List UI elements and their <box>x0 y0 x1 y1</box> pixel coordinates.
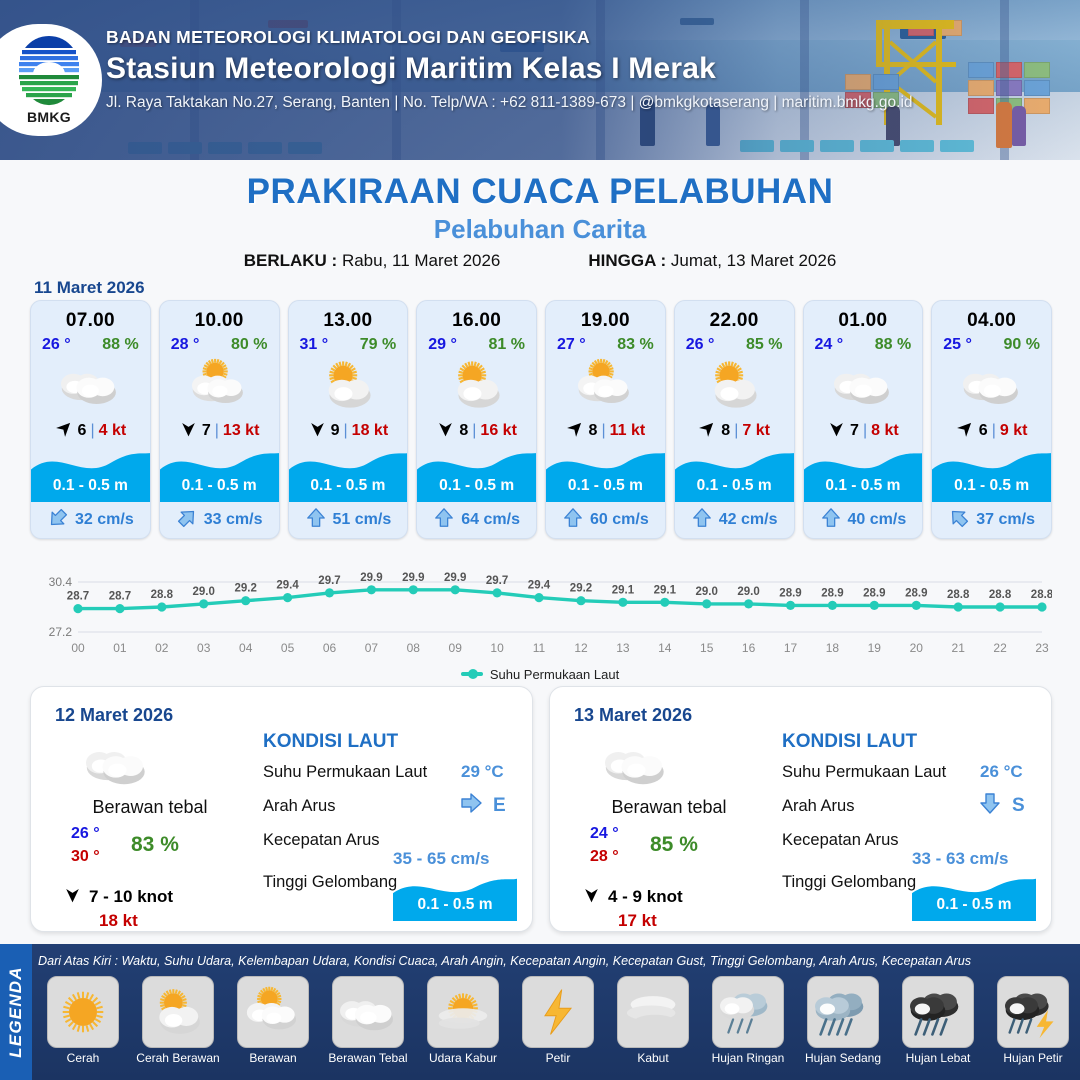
card-wave: 0.1 - 0.5 m <box>804 446 923 502</box>
valid-from-label: BERLAKU : <box>244 251 338 270</box>
wind-direction-arrow-icon <box>827 419 846 443</box>
svg-text:12: 12 <box>574 641 588 655</box>
legend-item: Berawan <box>228 976 318 1065</box>
card-wind-direction: 8 <box>589 422 598 440</box>
header-text-block: BADAN METEOROLOGI KLIMATOLOGI DAN GEOFIS… <box>106 27 913 112</box>
berawan-icon <box>237 976 309 1048</box>
card-wind-separator: | <box>215 422 219 440</box>
card-temperature: 26 ° <box>686 336 715 354</box>
current-direction-arrow-icon <box>820 507 842 534</box>
panel-wind-value: 7 - 10 knot <box>89 887 173 907</box>
panel-temp-max: 30 ° <box>71 845 100 868</box>
panel-sea-title: KONDISI LAUT <box>782 731 917 753</box>
svg-text:10: 10 <box>490 641 504 655</box>
card-wind-separator: | <box>344 422 348 440</box>
svg-text:08: 08 <box>407 641 421 655</box>
forecast-card: 10.00 28 ° 80 % 7 | 13 kt 0.1 - 0.5 m <box>159 300 280 539</box>
legend-items: Cerah Cerah Berawan Berawan Berawan Teba <box>38 976 1080 1065</box>
card-wave: 0.1 - 0.5 m <box>546 446 665 502</box>
legend-item-label: Hujan Ringan <box>703 1051 793 1065</box>
panel-gust: 17 kt <box>618 911 657 931</box>
card-temp-humidity: 26 ° 88 % <box>31 332 150 354</box>
panel-current-dir-label: Arah Arus <box>263 797 335 816</box>
card-wind-row: 8 | 16 kt <box>417 416 536 446</box>
svg-text:15: 15 <box>700 641 714 655</box>
wind-direction-arrow-icon <box>179 419 198 443</box>
svg-text:05: 05 <box>281 641 295 655</box>
card-current-row: 37 cm/s <box>932 502 1051 538</box>
panel-condition: Berawan tebal <box>569 797 769 818</box>
daily-summary-panels: 12 Maret 2026 Berawan tebal 26 ° 30 ° 83… <box>30 686 1052 932</box>
card-current-row: 40 cm/s <box>804 502 923 538</box>
panel-humidity: 83 % <box>131 833 179 857</box>
svg-text:29.0: 29.0 <box>696 586 718 598</box>
panel-current-dir-value: E <box>493 795 506 817</box>
cerah-berawan-icon <box>675 354 794 416</box>
card-wind-direction: 6 <box>979 422 988 440</box>
svg-text:09: 09 <box>449 641 463 655</box>
legend-item: Cerah Berawan <box>133 976 223 1065</box>
cerah-berawan-icon <box>417 354 536 416</box>
card-time: 07.00 <box>31 301 150 332</box>
card-wind-speed: 7 kt <box>742 422 770 440</box>
card-wind-speed: 4 kt <box>99 422 127 440</box>
card-wave-height: 0.1 - 0.5 m <box>31 477 150 495</box>
contact-info: Jl. Raya Taktakan No.27, Serang, Banten … <box>106 94 913 112</box>
card-temp-humidity: 31 ° 79 % <box>289 332 408 354</box>
wind-direction-arrow-icon <box>582 885 601 909</box>
card-humidity: 88 % <box>875 336 911 354</box>
svg-text:20: 20 <box>910 641 924 655</box>
svg-text:16: 16 <box>742 641 756 655</box>
berawan-tebal-icon <box>605 733 667 800</box>
forecast-card: 19.00 27 ° 83 % 8 | 11 kt 0.1 - 0.5 m <box>545 300 666 539</box>
svg-text:29.9: 29.9 <box>402 572 424 584</box>
card-current-row: 60 cm/s <box>546 502 665 538</box>
svg-text:18: 18 <box>826 641 840 655</box>
berawan-tebal-icon <box>86 733 148 800</box>
card-wind-speed: 18 kt <box>352 422 388 440</box>
svg-text:01: 01 <box>113 641 127 655</box>
svg-text:22: 22 <box>993 641 1007 655</box>
panel-current-dir-value-group: E <box>459 791 506 820</box>
legend-item-label: Kabut <box>608 1051 698 1065</box>
card-current-row: 42 cm/s <box>675 502 794 538</box>
forecast-card: 01.00 24 ° 88 % 7 | 8 kt 0.1 - 0.5 m <box>803 300 924 539</box>
card-wind-direction: 8 <box>721 422 730 440</box>
panel-current-dir-label: Arah Arus <box>782 797 854 816</box>
card-wave-height: 0.1 - 0.5 m <box>417 477 536 495</box>
card-wave-height: 0.1 - 0.5 m <box>289 477 408 495</box>
svg-text:29.4: 29.4 <box>528 580 551 592</box>
svg-text:13: 13 <box>616 641 630 655</box>
legend-side-label: LEGENDA <box>0 944 32 1080</box>
card-temperature: 26 ° <box>42 336 71 354</box>
card-wind-direction: 8 <box>459 422 468 440</box>
bmkg-logo-icon <box>13 34 85 112</box>
card-wind-separator: | <box>992 422 996 440</box>
card-wind-direction: 6 <box>78 422 87 440</box>
card-current-row: 64 cm/s <box>417 502 536 538</box>
panel-wave-label: Tinggi Gelombang <box>263 873 397 892</box>
berawan-tebal-icon <box>332 976 404 1048</box>
card-temp-humidity: 28 ° 80 % <box>160 332 279 354</box>
svg-text:28.7: 28.7 <box>67 591 89 603</box>
svg-text:28.8: 28.8 <box>947 589 970 601</box>
card-wind-row: 7 | 8 kt <box>804 416 923 446</box>
svg-text:23: 23 <box>1035 641 1049 655</box>
legend-item-label: Berawan Tebal <box>323 1051 413 1065</box>
card-time: 22.00 <box>675 301 794 332</box>
wind-direction-arrow-icon <box>63 885 82 909</box>
card-wave-height: 0.1 - 0.5 m <box>675 477 794 495</box>
legend-item: Kabut <box>608 976 698 1065</box>
svg-text:29.9: 29.9 <box>360 572 382 584</box>
svg-text:28.7: 28.7 <box>109 591 131 603</box>
panel-current-speed-value: 33 - 63 cm/s <box>912 849 1008 869</box>
card-wind-separator: | <box>863 422 867 440</box>
card-wave: 0.1 - 0.5 m <box>417 446 536 502</box>
card-temp-humidity: 25 ° 90 % <box>932 332 1051 354</box>
svg-text:03: 03 <box>197 641 211 655</box>
svg-text:29.7: 29.7 <box>318 575 340 587</box>
svg-text:19: 19 <box>868 641 882 655</box>
card-wind-row: 7 | 13 kt <box>160 416 279 446</box>
panel-wave-value: 0.1 - 0.5 m <box>393 896 517 914</box>
panel-current-speed-label: Kecepatan Arus <box>263 831 380 850</box>
panel-current-dir-value-group: S <box>978 791 1025 820</box>
card-current-speed: 32 cm/s <box>75 511 134 529</box>
card-wave: 0.1 - 0.5 m <box>31 446 150 502</box>
wind-direction-arrow-icon <box>55 419 74 443</box>
current-direction-arrow-icon <box>978 791 1002 820</box>
forecast-day-label: 11 Maret 2026 <box>34 278 145 298</box>
panel-wave-badge: 0.1 - 0.5 m <box>912 873 1036 921</box>
forecast-card: 04.00 25 ° 90 % 6 | 9 kt 0.1 - 0.5 m <box>931 300 1052 539</box>
svg-text:17: 17 <box>784 641 798 655</box>
forecast-card: 22.00 26 ° 85 % 8 | 7 kt 0.1 - 0.5 m 42 … <box>674 300 795 539</box>
chart-legend: Suhu Permukaan Laut <box>0 664 1080 682</box>
legend-item: Cerah <box>38 976 128 1065</box>
svg-text:30.4: 30.4 <box>49 575 73 589</box>
legend-item-label: Hujan Sedang <box>798 1051 888 1065</box>
wind-direction-arrow-icon <box>698 419 717 443</box>
panel-sst-label: Suhu Permukaan Laut <box>782 763 946 782</box>
card-wave-height: 0.1 - 0.5 m <box>546 477 665 495</box>
card-humidity: 79 % <box>360 336 396 354</box>
wind-direction-arrow-icon <box>956 419 975 443</box>
cerah-icon <box>47 976 119 1048</box>
current-direction-arrow-icon <box>562 507 584 534</box>
svg-text:28.9: 28.9 <box>863 587 885 599</box>
card-temperature: 27 ° <box>557 336 586 354</box>
card-humidity: 88 % <box>102 336 138 354</box>
legend-item-label: Hujan Lebat <box>893 1051 983 1065</box>
wind-direction-arrow-icon <box>566 419 585 443</box>
legend-strip: LEGENDA Dari Atas Kiri : Waktu, Suhu Uda… <box>0 944 1080 1080</box>
card-current-speed: 40 cm/s <box>848 511 907 529</box>
panel-temp-min: 26 ° <box>71 822 100 845</box>
card-wave-height: 0.1 - 0.5 m <box>160 477 279 495</box>
hujan-lebat-icon <box>902 976 974 1048</box>
svg-text:28.9: 28.9 <box>821 587 843 599</box>
valid-until: HINGGA : Jumat, 13 Maret 2026 <box>588 251 836 271</box>
panel-sea-title: KONDISI LAUT <box>263 731 398 753</box>
svg-text:29.4: 29.4 <box>276 580 299 592</box>
svg-text:29.2: 29.2 <box>570 583 592 595</box>
panel-humidity: 85 % <box>650 833 698 857</box>
legend-item-label: Petir <box>513 1051 603 1065</box>
panel-wind-value: 4 - 9 knot <box>608 887 683 907</box>
panel-sst-label: Suhu Permukaan Laut <box>263 763 427 782</box>
panel-wave-value: 0.1 - 0.5 m <box>912 896 1036 914</box>
current-direction-arrow-icon <box>176 507 198 534</box>
card-humidity: 83 % <box>617 336 653 354</box>
hourly-forecast-cards: 07.00 26 ° 88 % 6 | 4 kt 0.1 - 0.5 m <box>30 300 1052 539</box>
valid-from: BERLAKU : Rabu, 11 Maret 2026 <box>244 251 501 271</box>
wind-direction-arrow-icon <box>436 419 455 443</box>
legend-item: Berawan Tebal <box>323 976 413 1065</box>
panel-current-speed-label: Kecepatan Arus <box>782 831 899 850</box>
card-wind-speed: 9 kt <box>1000 422 1028 440</box>
svg-text:28.9: 28.9 <box>779 587 801 599</box>
card-time: 04.00 <box>932 301 1051 332</box>
svg-text:29.1: 29.1 <box>612 584 635 596</box>
legend-item: Hujan Ringan <box>703 976 793 1065</box>
berawan-tebal-icon <box>804 354 923 416</box>
hujan-petir-icon <box>997 976 1069 1048</box>
udara-kabur-icon <box>427 976 499 1048</box>
berawan-icon <box>546 354 665 416</box>
card-wind-separator: | <box>601 422 605 440</box>
svg-text:29.1: 29.1 <box>654 584 677 596</box>
card-current-row: 32 cm/s <box>31 502 150 538</box>
svg-text:14: 14 <box>658 641 672 655</box>
chart-legend-marker-icon <box>461 672 483 676</box>
card-wind-speed: 11 kt <box>610 422 646 440</box>
svg-text:11: 11 <box>533 641 546 655</box>
card-wind-row: 8 | 7 kt <box>675 416 794 446</box>
card-current-speed: 37 cm/s <box>976 511 1035 529</box>
panel-temperatures: 24 ° 28 ° <box>590 822 619 868</box>
card-time: 10.00 <box>160 301 279 332</box>
page-subtitle: Pelabuhan Carita <box>0 214 1080 245</box>
card-current-row: 51 cm/s <box>289 502 408 538</box>
card-temp-humidity: 27 ° 83 % <box>546 332 665 354</box>
card-current-speed: 33 cm/s <box>204 511 263 529</box>
valid-until-value: Jumat, 13 Maret 2026 <box>671 251 836 270</box>
current-direction-arrow-icon <box>948 507 970 534</box>
card-wind-speed: 8 kt <box>871 422 899 440</box>
card-humidity: 90 % <box>1004 336 1040 354</box>
card-time: 13.00 <box>289 301 408 332</box>
card-wave: 0.1 - 0.5 m <box>160 446 279 502</box>
legend-item-label: Cerah <box>38 1051 128 1065</box>
card-humidity: 85 % <box>746 336 782 354</box>
card-humidity: 81 % <box>489 336 525 354</box>
card-current-speed: 60 cm/s <box>590 511 649 529</box>
card-wave: 0.1 - 0.5 m <box>675 446 794 502</box>
current-direction-arrow-icon <box>691 507 713 534</box>
cerah-berawan-icon <box>289 354 408 416</box>
panel-wave-badge: 0.1 - 0.5 m <box>393 873 517 921</box>
current-direction-arrow-icon <box>305 507 327 534</box>
svg-text:02: 02 <box>155 641 169 655</box>
valid-from-value: Rabu, 11 Maret 2026 <box>342 251 500 270</box>
svg-text:29.0: 29.0 <box>737 586 759 598</box>
page-title: PRAKIRAAN CUACA PELABUHAN <box>0 172 1080 212</box>
svg-text:29.9: 29.9 <box>444 572 466 584</box>
card-time: 01.00 <box>804 301 923 332</box>
card-wind-separator: | <box>472 422 476 440</box>
svg-text:28.8: 28.8 <box>151 589 174 601</box>
card-wave-height: 0.1 - 0.5 m <box>932 477 1051 495</box>
svg-text:27.2: 27.2 <box>49 625 73 639</box>
legend-side-text: LEGENDA <box>6 966 26 1058</box>
svg-text:06: 06 <box>323 641 337 655</box>
forecast-card: 07.00 26 ° 88 % 6 | 4 kt 0.1 - 0.5 m <box>30 300 151 539</box>
card-wave: 0.1 - 0.5 m <box>289 446 408 502</box>
legend-item: Udara Kabur <box>418 976 508 1065</box>
legend-item: Petir <box>513 976 603 1065</box>
daily-summary-panel: 13 Maret 2026 Berawan tebal 24 ° 28 ° 85… <box>549 686 1052 932</box>
station-name: Stasiun Meteorologi Maritim Kelas I Mera… <box>106 52 913 86</box>
legend-item-label: Udara Kabur <box>418 1051 508 1065</box>
svg-text:28.8: 28.8 <box>989 589 1012 601</box>
panel-current-speed-value: 35 - 65 cm/s <box>393 849 489 869</box>
panel-temp-min: 24 ° <box>590 822 619 845</box>
card-wave-height: 0.1 - 0.5 m <box>804 477 923 495</box>
card-temp-humidity: 29 ° 81 % <box>417 332 536 354</box>
card-wind-separator: | <box>90 422 94 440</box>
panel-condition: Berawan tebal <box>50 797 250 818</box>
cerah-berawan-icon <box>142 976 214 1048</box>
bmkg-logo-text: BMKG <box>13 109 85 125</box>
card-temperature: 29 ° <box>428 336 457 354</box>
card-wind-direction: 7 <box>202 422 211 440</box>
page-header: BMKG BADAN METEOROLOGI KLIMATOLOGI DAN G… <box>0 0 1080 160</box>
legend-item-label: Hujan Petir <box>988 1051 1078 1065</box>
card-humidity: 80 % <box>231 336 267 354</box>
svg-text:29.2: 29.2 <box>235 583 257 595</box>
berawan-tebal-icon <box>31 354 150 416</box>
card-temp-humidity: 24 ° 88 % <box>804 332 923 354</box>
panel-wave-label: Tinggi Gelombang <box>782 873 916 892</box>
panel-gust: 18 kt <box>99 911 138 931</box>
legend-item: Hujan Lebat <box>893 976 983 1065</box>
card-temp-humidity: 26 ° 85 % <box>675 332 794 354</box>
card-wave: 0.1 - 0.5 m <box>932 446 1051 502</box>
panel-temperatures: 26 ° 30 ° <box>71 822 100 868</box>
forecast-card: 13.00 31 ° 79 % 9 | 18 kt 0.1 - 0.5 m 51… <box>288 300 409 539</box>
petir-icon <box>522 976 594 1048</box>
valid-until-label: HINGGA : <box>588 251 666 270</box>
legend-item: Hujan Sedang <box>798 976 888 1065</box>
legend-item: Hujan Petir <box>988 976 1078 1065</box>
current-direction-arrow-icon <box>47 507 69 534</box>
forecast-card: 16.00 29 ° 81 % 8 | 16 kt 0.1 - 0.5 m 64… <box>416 300 537 539</box>
svg-text:28.9: 28.9 <box>905 587 927 599</box>
daily-summary-panel: 12 Maret 2026 Berawan tebal 26 ° 30 ° 83… <box>30 686 533 932</box>
card-wind-speed: 13 kt <box>223 422 259 440</box>
panel-temp-max: 28 ° <box>590 845 619 868</box>
svg-text:29.7: 29.7 <box>486 575 508 587</box>
card-temperature: 31 ° <box>300 336 329 354</box>
current-direction-arrow-icon <box>433 507 455 534</box>
legend-note: Dari Atas Kiri : Waktu, Suhu Udara, Kele… <box>38 954 1076 968</box>
berawan-icon <box>160 354 279 416</box>
kabut-icon <box>617 976 689 1048</box>
chart-legend-label: Suhu Permukaan Laut <box>490 667 619 682</box>
panel-wind: 7 - 10 knot <box>63 885 173 909</box>
berawan-tebal-icon <box>932 354 1051 416</box>
svg-text:21: 21 <box>952 641 966 655</box>
card-wind-row: 8 | 11 kt <box>546 416 665 446</box>
svg-text:00: 00 <box>71 641 85 655</box>
card-current-speed: 64 cm/s <box>461 511 520 529</box>
panel-date: 12 Maret 2026 <box>55 705 173 726</box>
card-wind-row: 6 | 9 kt <box>932 416 1051 446</box>
svg-text:28.8: 28.8 <box>1031 589 1052 601</box>
wind-direction-arrow-icon <box>308 419 327 443</box>
card-wind-direction: 9 <box>331 422 340 440</box>
svg-text:29.0: 29.0 <box>193 586 215 598</box>
card-time: 16.00 <box>417 301 536 332</box>
svg-text:04: 04 <box>239 641 253 655</box>
panel-sst-value: 29 °C <box>461 762 504 782</box>
svg-text:07: 07 <box>365 641 379 655</box>
hujan-ringan-icon <box>712 976 784 1048</box>
card-current-row: 33 cm/s <box>160 502 279 538</box>
legend-item-label: Berawan <box>228 1051 318 1065</box>
panel-sst-value: 26 °C <box>980 762 1023 782</box>
card-temperature: 25 ° <box>943 336 972 354</box>
card-wind-speed: 16 kt <box>480 422 516 440</box>
card-wind-row: 6 | 4 kt <box>31 416 150 446</box>
legend-item-label: Cerah Berawan <box>133 1051 223 1065</box>
card-current-speed: 51 cm/s <box>333 511 392 529</box>
panel-date: 13 Maret 2026 <box>574 705 692 726</box>
panel-current-dir-value: S <box>1012 795 1025 817</box>
panel-wind: 4 - 9 knot <box>582 885 683 909</box>
current-direction-arrow-icon <box>459 791 483 820</box>
card-wind-separator: | <box>734 422 738 440</box>
card-temperature: 24 ° <box>815 336 844 354</box>
card-time: 19.00 <box>546 301 665 332</box>
validity-row: BERLAKU : Rabu, 11 Maret 2026 HINGGA : J… <box>0 251 1080 271</box>
card-wind-row: 9 | 18 kt <box>289 416 408 446</box>
card-current-speed: 42 cm/s <box>719 511 778 529</box>
agency-name: BADAN METEOROLOGI KLIMATOLOGI DAN GEOFIS… <box>106 27 913 48</box>
card-temperature: 28 ° <box>171 336 200 354</box>
hujan-sedang-icon <box>807 976 879 1048</box>
card-wind-direction: 7 <box>850 422 859 440</box>
